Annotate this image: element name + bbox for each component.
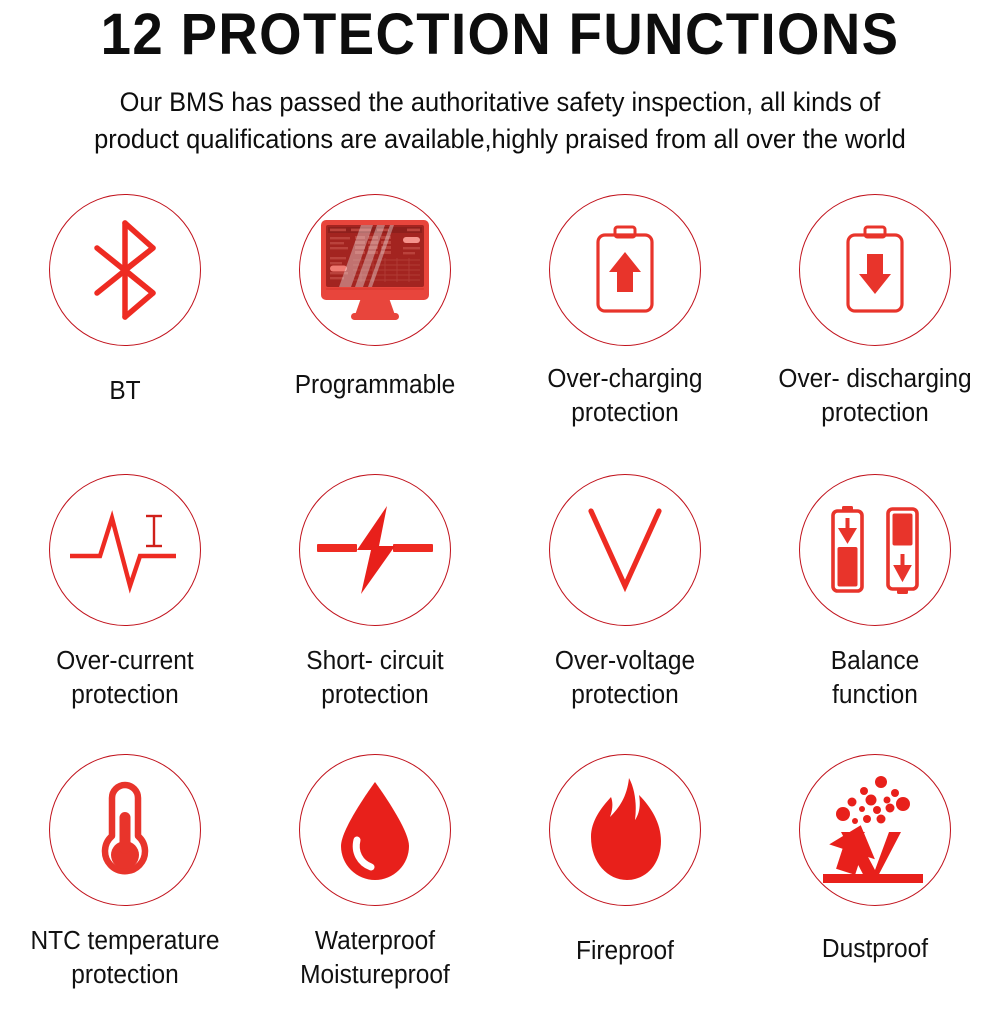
thermometer-icon (88, 778, 162, 882)
features-row: BT (0, 186, 1000, 466)
features-row: Over-current protection Short- circuit p… (0, 466, 1000, 746)
icon-circle (799, 754, 951, 906)
feature-dustproof[interactable]: Dustproof (750, 746, 1000, 1026)
feature-over-charging[interactable]: Over-charging protection (500, 186, 750, 466)
feature-balance[interactable]: Balance function (750, 466, 1000, 746)
feature-over-discharging[interactable]: Over- discharging protection (750, 186, 1000, 466)
feature-label: Fireproof (505, 934, 745, 968)
flame-icon (577, 775, 673, 885)
water-droplet-icon (331, 778, 419, 882)
subtitle-line-2: product qualifications are available,hig… (33, 121, 966, 159)
feature-over-voltage[interactable]: Over-voltage protection (500, 466, 750, 746)
icon-circle (799, 474, 951, 626)
icon-circle (49, 754, 201, 906)
feature-label: Over- discharging protection (755, 362, 995, 431)
feature-label: NTC temperature protection (5, 924, 245, 993)
lightning-bolt-icon (313, 500, 437, 600)
icon-circle (49, 474, 201, 626)
subtitle-line-1: Our BMS has passed the authoritative saf… (33, 84, 966, 122)
feature-label: Over-current protection (5, 644, 245, 713)
features-grid: BT (0, 186, 1000, 1026)
feature-label: Dustproof (755, 932, 995, 966)
feature-fireproof[interactable]: Fireproof (500, 746, 750, 1026)
bluetooth-icon (75, 215, 175, 325)
two-batteries-icon (825, 500, 925, 600)
icon-circle (299, 194, 451, 346)
header: 12 PROTECTION FUNCTIONS Our BMS has pass… (0, 0, 1000, 159)
icon-circle (549, 754, 701, 906)
monitor-icon (315, 214, 435, 326)
battery-up-arrow-icon (583, 222, 667, 318)
features-row: NTC temperature protection Waterproof Mo… (0, 746, 1000, 1026)
battery-down-arrow-icon (833, 222, 917, 318)
icon-circle (549, 194, 701, 346)
feature-short-circuit[interactable]: Short- circuit protection (250, 466, 500, 746)
feature-label: Programmable (255, 368, 495, 402)
dust-bounce-icon (819, 774, 931, 886)
page-subtitle: Our BMS has passed the authoritative saf… (20, 84, 980, 159)
icon-circle (299, 474, 451, 626)
icon-circle (549, 474, 701, 626)
feature-label: Waterproof Moistureproof (255, 924, 495, 993)
feature-label: Balance function (755, 644, 995, 713)
letter-v-icon (580, 505, 670, 595)
feature-programmable[interactable]: Programmable (250, 186, 500, 466)
feature-over-current[interactable]: Over-current protection (0, 466, 250, 746)
feature-ntc-temperature[interactable]: NTC temperature protection (0, 746, 250, 1026)
feature-bt[interactable]: BT (0, 186, 250, 466)
feature-waterproof[interactable]: Waterproof Moistureproof (250, 746, 500, 1026)
icon-circle (49, 194, 201, 346)
pulse-waveform-icon (66, 504, 184, 596)
feature-label: BT (5, 374, 245, 408)
feature-label: Over-voltage protection (505, 644, 745, 713)
page-title: 12 PROTECTION FUNCTIONS (30, 4, 970, 67)
feature-label: Short- circuit protection (255, 644, 495, 713)
infographic-page: 12 PROTECTION FUNCTIONS Our BMS has pass… (0, 0, 1000, 1000)
icon-circle (299, 754, 451, 906)
feature-label: Over-charging protection (505, 362, 745, 431)
icon-circle (799, 194, 951, 346)
